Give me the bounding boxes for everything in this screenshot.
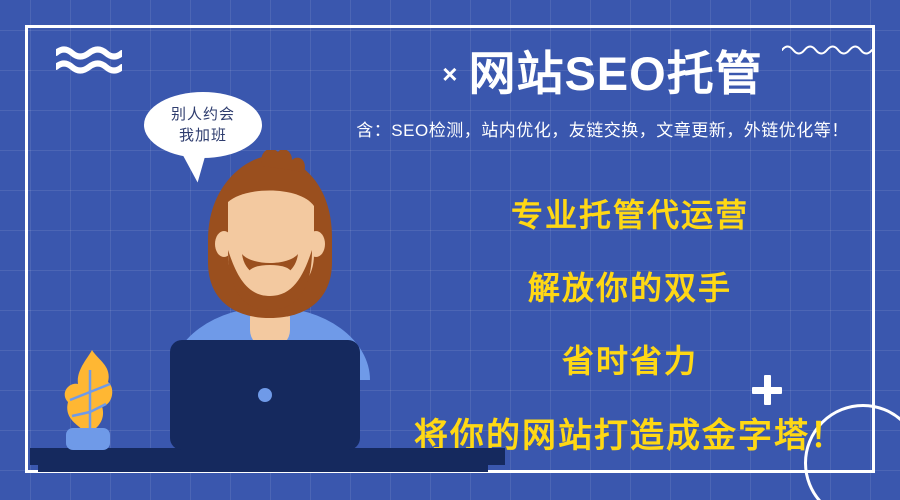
page-title: ×网站SEO托管 xyxy=(330,48,875,100)
ear-left-shape xyxy=(215,231,233,257)
speech-bubble-line: 我加班 xyxy=(179,125,227,146)
ear-right-shape xyxy=(307,231,325,257)
slogan-line: 专业托管代运营 xyxy=(380,190,880,236)
slogan-list: 专业托管代运营 解放你的双手 省时省力 将你的网站打造成金字塔！ xyxy=(380,190,880,457)
desk-edge xyxy=(38,465,488,472)
page-subtitle: 含：SEO检测，站内优化，友链交换，文章更新，外链优化等！ xyxy=(330,116,875,141)
headline-block: ×网站SEO托管 含：SEO检测，站内优化，友链交换，文章更新，外链优化等！ xyxy=(330,48,875,141)
speech-bubble-line: 别人约会 xyxy=(171,104,235,125)
x-mark-icon: × xyxy=(442,60,458,89)
plant-pot-shape xyxy=(66,428,110,450)
poster-canvas: ×网站SEO托管 含：SEO检测，站内优化，友链交换，文章更新，外链优化等！ 专… xyxy=(0,0,900,500)
speech-bubble: 别人约会 我加班 xyxy=(144,92,262,158)
slogan-line: 省时省力 xyxy=(380,336,880,382)
double-wave-line-icon xyxy=(56,45,122,75)
mouth-shape xyxy=(249,265,291,279)
page-title-text: 网站SEO托管 xyxy=(468,47,762,100)
slogan-line: 解放你的双手 xyxy=(380,263,880,309)
laptop-logo-icon xyxy=(258,388,272,402)
potted-plant-illustration xyxy=(58,348,118,450)
laptop-illustration xyxy=(170,340,360,450)
desk-surface xyxy=(30,448,505,465)
